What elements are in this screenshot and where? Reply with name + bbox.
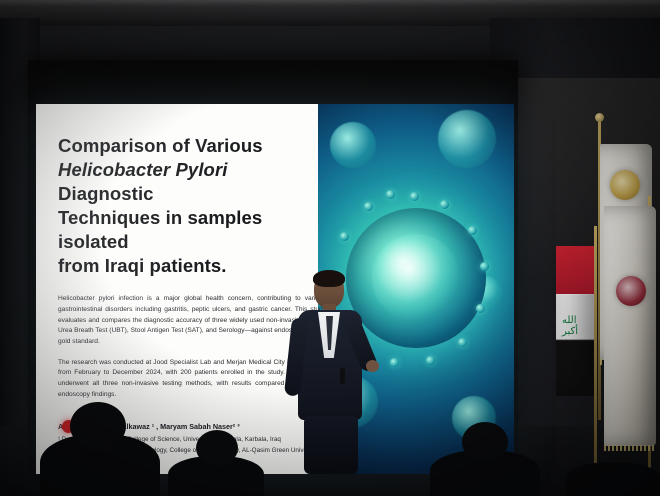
flag-finial	[595, 113, 604, 122]
slide-title-line-1: Comparison of Various	[58, 134, 326, 158]
flag-cloth	[604, 206, 656, 446]
audience-head	[462, 422, 508, 462]
flag-iraq-pole	[594, 226, 597, 486]
audience-head	[70, 402, 126, 450]
audience-person	[566, 462, 660, 496]
presenter-right-hand	[366, 360, 379, 372]
presenter-legs	[304, 416, 358, 474]
presenter-hair	[313, 270, 345, 287]
slide-title-line-3: Techniques in samples isolated	[58, 206, 326, 254]
microphone	[340, 368, 345, 384]
flag-emblem	[616, 276, 646, 306]
flag-iraq: الله أكبر	[556, 246, 594, 396]
flag-iraq-inscription: الله أكبر	[562, 315, 588, 327]
flag-fringe	[604, 445, 656, 451]
presenter	[282, 272, 378, 474]
flag-institution-2	[604, 196, 658, 486]
ceiling-light-strip	[0, 0, 660, 7]
audience-head	[196, 430, 238, 466]
slide-title: Comparison of Various Helicobacter Pylor…	[58, 134, 326, 278]
flag-iraq-red-band	[556, 246, 594, 294]
conference-photo: Comparison of Various Helicobacter Pylor…	[0, 0, 660, 496]
slide-title-line-2: Helicobacter Pylori Diagnostic	[58, 158, 326, 206]
